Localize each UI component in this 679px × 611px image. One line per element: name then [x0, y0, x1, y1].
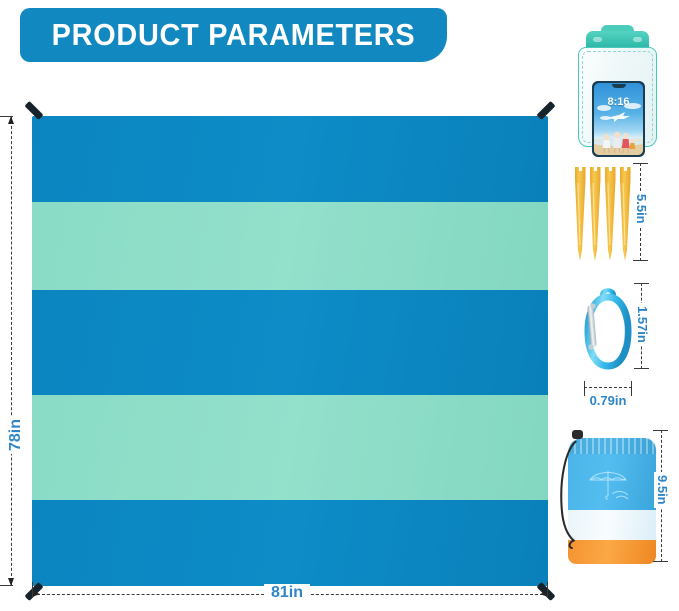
header-banner: PRODUCT PARAMETERS	[20, 8, 447, 62]
dimension-line-vertical	[11, 116, 12, 586]
pouch-body: 8:16	[578, 47, 657, 147]
dimension-cap-top	[634, 283, 649, 284]
dimension-cap-left	[32, 582, 33, 597]
dimension-cap-bottom	[653, 561, 668, 562]
cloud-icon	[624, 103, 641, 109]
blanket-height-dimension: 78in	[11, 116, 13, 586]
dimension-cap-bottom	[633, 260, 648, 261]
blanket-stripe-2	[32, 202, 548, 290]
beach-scene-illustration	[594, 129, 643, 155]
blanket-fabric	[32, 116, 548, 586]
tent-stakes-illustration	[574, 163, 636, 261]
dimension-cap-bottom	[634, 368, 649, 369]
blanket-width-label: 81in	[264, 584, 310, 602]
airplane-icon	[606, 111, 632, 123]
page-title: PRODUCT PARAMETERS	[52, 17, 416, 53]
stake-length-label: 5.5in	[633, 191, 650, 227]
dimension-cap-bottom	[0, 585, 13, 586]
blanket-stripe-1	[32, 116, 548, 202]
waterproof-phone-pouch: 8:16	[578, 31, 657, 147]
dimension-cap-top	[0, 116, 13, 117]
carabiner-height-label: 1.57in	[634, 303, 651, 346]
carabiner-illustration	[578, 281, 638, 371]
beach-blanket-illustration	[32, 116, 548, 586]
phone-inside-pouch: 8:16	[592, 81, 645, 157]
stake-length-dimension: 5.5in	[640, 163, 642, 261]
storage-bag-illustration	[556, 428, 656, 564]
beach-umbrella-logo-icon	[586, 468, 642, 502]
bag-height-dimension: 9.5in	[661, 430, 663, 562]
carabiner-height-dimension: 1.57in	[641, 283, 643, 369]
dimension-cap-top	[633, 163, 648, 164]
arrow-right-icon	[32, 591, 40, 597]
bag-drawstring-cord-icon	[556, 432, 584, 552]
arrow-up-icon	[8, 116, 14, 124]
bag-height-label: 9.5in	[654, 472, 671, 508]
dimension-line-horizontal	[584, 387, 632, 388]
blanket-width-dimension: 81in	[32, 594, 548, 596]
product-parameters-infographic: PRODUCT PARAMETERS 78in 81in	[0, 0, 679, 611]
carabiner-icon	[578, 281, 638, 371]
phone-notch	[612, 84, 626, 88]
carabiner-width-label: 0.79in	[578, 393, 638, 408]
blanket-stripe-3	[32, 290, 548, 395]
tent-stakes-group	[574, 163, 636, 261]
phone-screen: 8:16	[594, 83, 643, 155]
bag-cord-toggle	[572, 430, 583, 439]
blanket-height-label: 78in	[5, 416, 27, 454]
blanket-stripe-4	[32, 395, 548, 500]
blanket-stripe-5	[32, 500, 548, 586]
carabiner-width-dimension: 0.79in	[584, 387, 632, 389]
dimension-cap-top	[653, 430, 668, 431]
dimension-cap-right	[547, 582, 548, 597]
